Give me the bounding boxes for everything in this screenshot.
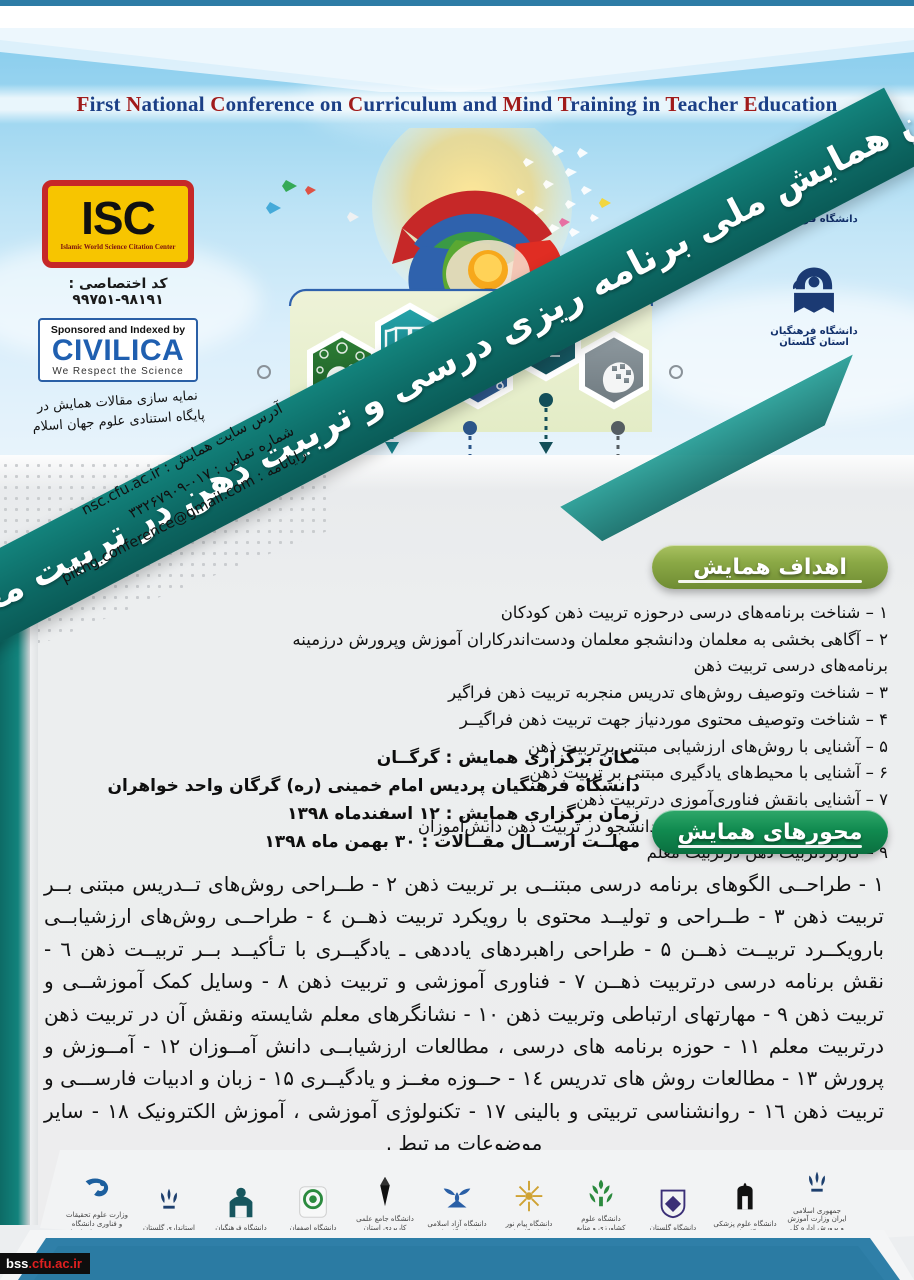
left-teal-edge (0, 560, 30, 1225)
english-title-part-7: urriculum and (363, 92, 502, 116)
university-logo-farhangian-golestan: دانشگاه فرهنگیان استان گلستان (754, 262, 874, 348)
bottom-wedge-decoration (0, 1200, 914, 1280)
goal-item: ۲ – آگاهی بخشی به معلمان ودانشجو معلمان … (288, 627, 888, 680)
english-title-part-14: E (743, 92, 757, 116)
english-title-part-11: raining in (570, 92, 665, 116)
english-title-part-6: C (348, 92, 363, 116)
english-title-part-3: ational (142, 92, 211, 116)
iran-emblem-icon (785, 1160, 849, 1204)
watermark-white: bss (6, 1256, 28, 1271)
watermark-red: .cfu.ac.ir (28, 1256, 81, 1271)
indexing-logos-column: ISC Islamic World Science Citation Cente… (28, 180, 208, 431)
conference-poster: First National Conference on Curriculum … (0, 0, 914, 1280)
pill-underline (678, 580, 862, 583)
isc-logo: ISC Islamic World Science Citation Cente… (42, 180, 194, 268)
goal-item: ۳ – شناخت وتوصیف روش‌های تدریس منجربه تر… (288, 680, 888, 707)
english-title-part-10: T (558, 92, 571, 116)
english-title-part-1: irst (90, 92, 127, 116)
topics-paragraph: ۱ - طراحــی الگوهای برنامه درسی مبتنــی … (44, 868, 884, 1160)
english-title-part-8: M (503, 92, 523, 116)
civilica-name: CIVILICA (42, 336, 194, 366)
topics-heading: محورهای همایش (678, 820, 863, 845)
venue-label: مکان برگزاری همایش : گرگــان (40, 744, 640, 772)
university-name: دانشگاه فرهنگیان استان گلستان (754, 326, 874, 348)
english-title-part-5: onference on (226, 92, 348, 116)
site-watermark: bss.cfu.ac.ir (0, 1253, 90, 1274)
pill-underline (678, 845, 862, 848)
english-title-part-9: ind (523, 92, 558, 116)
event-details: مکان برگزاری همایش : گرگــان دانشگاه فره… (40, 744, 640, 856)
english-title: First National Conference on Curriculum … (0, 84, 914, 124)
top-chevron-decoration (0, 0, 914, 92)
civilica-tagline: We Respect the Science (42, 366, 194, 377)
goal-item: ۴ – شناخت وتوصیف محتوی موردنیاز جهت تربی… (288, 707, 888, 734)
english-title-part-13: eacher (678, 92, 744, 116)
topics-heading-pill: محورهای همایش (652, 810, 888, 854)
submission-deadline: مهلــت ارســال مقــالات : ۳۰ بهمن ماه ۱۳… (40, 828, 640, 856)
english-title-part-12: T (665, 92, 677, 116)
goal-item: ۱ – شناخت برنامه‌های درسی درحوزه تربیت ذ… (288, 600, 888, 627)
event-date: زمان برگزاری همایش : ۱۲ اسفندماه ۱۳۹۸ (40, 800, 640, 828)
isc-subtitle: Islamic World Science Citation Center (61, 243, 176, 251)
goals-heading-pill: اهداف همایش (652, 545, 888, 589)
goals-heading: اهداف همایش (693, 555, 847, 580)
english-title-part-4: C (210, 92, 225, 116)
isc-code: کد اختصاصی : ۹۸۱۹۱-۹۹۷۵۱ (28, 276, 208, 308)
civilica-logo: Sponsored and Indexed by CIVILICA We Res… (38, 318, 198, 382)
english-title-part-0: F (77, 92, 90, 116)
isc-acronym: ISC (81, 197, 155, 239)
english-title-part-15: ducation (758, 92, 838, 116)
indexing-note: نمایه سازی مقالات همایش در پایگاه استناد… (27, 386, 209, 437)
venue-detail: دانشگاه فرهنگیان پردیس امام خمینی (ره) گ… (40, 772, 640, 800)
english-title-part-2: N (126, 92, 141, 116)
farhangian-golestan-logo-icon (785, 262, 843, 320)
